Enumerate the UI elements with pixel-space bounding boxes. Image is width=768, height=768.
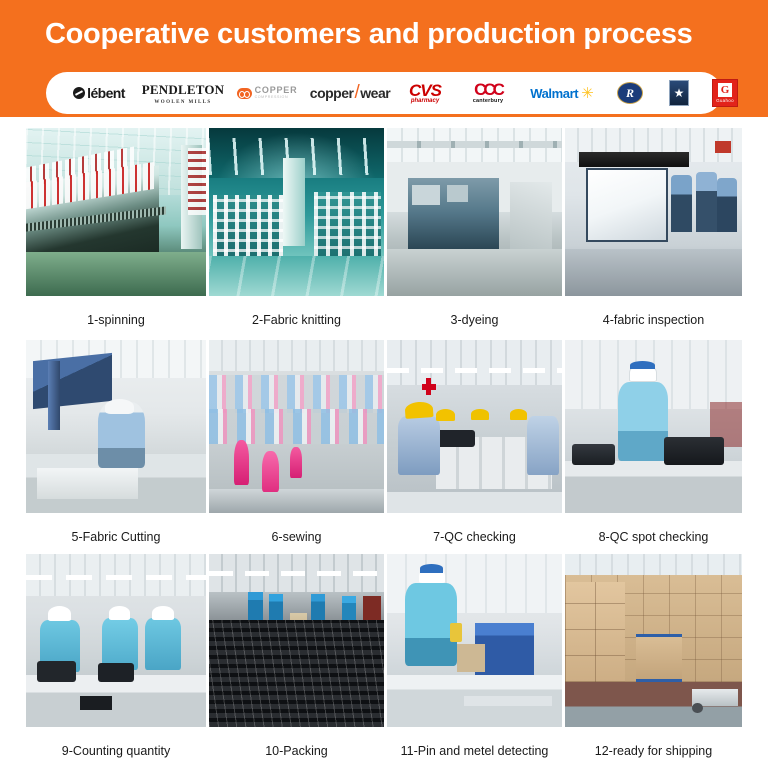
process-photo-grid: 1-spinning 2-Fabric knitting [26,128,742,754]
logo-star-brand: ★ [656,76,702,110]
logo-lebent: lébent [60,76,138,110]
logo-cvs: CVS pharmacy [394,76,456,110]
customer-logo-bar: lébent PENDLETON WOOLEN MILLS COPPER COM… [46,72,722,114]
logo-canterbury-mark: CCC [473,81,503,98]
copper-mark-icon [237,88,252,99]
process-cell-10[interactable]: 10-Packing [209,554,384,758]
logo-canterbury-label: canterbury [473,99,503,105]
process-photo-pin-metal-detecting[interactable] [387,554,562,727]
logo-pendleton-sub: WOOLEN MILLS [142,100,224,105]
process-cell-3[interactable]: 3-dyeing [387,128,562,327]
process-cell-1[interactable]: 1-spinning [26,128,206,327]
process-caption-10: 10-Packing [209,744,384,758]
process-photo-fabric-inspection[interactable] [565,128,742,296]
process-cell-9[interactable]: 9-Counting quantity [26,554,206,758]
process-photo-counting-quantity[interactable] [26,554,206,727]
process-photo-spinning[interactable] [26,128,206,296]
process-photo-ready-for-shipping[interactable] [565,554,742,727]
process-caption-12: 12-ready for shipping [565,744,742,758]
process-cell-11[interactable]: 11-Pin and metel detecting [387,554,562,758]
product-process-infographic: Cooperative customers and production pro… [0,0,768,768]
process-row-3: 9-Counting quantity 10-Packing [26,554,742,754]
logo-copperwear-label-b: wear [360,85,390,101]
process-caption-9: 9-Counting quantity [26,744,206,758]
process-cell-6[interactable]: 6-sewing [209,340,384,544]
logo-rebok: R [606,76,654,110]
process-photo-fabric-cutting[interactable] [26,340,206,513]
page-title: Cooperative customers and production pro… [45,18,693,51]
process-caption-5: 5-Fabric Cutting [26,530,206,544]
logo-rebok-label: R [626,86,634,101]
logo-pendleton: PENDLETON WOOLEN MILLS [140,76,226,110]
logo-g-brand: G Guahoo [704,76,746,110]
logo-g-label: G [718,83,732,97]
process-photo-packing[interactable] [209,554,384,727]
logo-copperwear-slash: / [354,82,359,104]
logo-g-sub: Guahoo [716,98,734,103]
star-icon: ★ [674,87,685,99]
logo-walmart: Walmart ✳ [520,76,604,110]
process-photo-dyeing[interactable] [387,128,562,296]
process-photo-fabric-knitting[interactable] [209,128,384,296]
logo-cvs-sub: pharmacy [409,98,441,104]
logo-copper-label: COPPER [255,86,298,95]
process-cell-4[interactable]: 4-fabric inspection [565,128,742,327]
process-caption-3: 3-dyeing [387,313,562,327]
process-caption-4: 4-fabric inspection [565,313,742,327]
process-caption-7: 7-QC checking [387,530,562,544]
logo-walmart-label: Walmart [530,86,578,101]
process-cell-8[interactable]: 8-QC spot checking [565,340,742,544]
process-photo-qc-spot-checking[interactable] [565,340,742,513]
logo-copperwear-label-a: copper [310,85,354,101]
process-caption-6: 6-sewing [209,530,384,544]
process-caption-1: 1-spinning [26,313,206,327]
process-cell-2[interactable]: 2-Fabric knitting [209,128,384,327]
process-row-1: 1-spinning 2-Fabric knitting [26,128,742,340]
logo-canterbury: CCC canterbury [458,76,518,110]
lebent-mark-icon [73,87,85,99]
process-photo-sewing[interactable] [209,340,384,513]
logo-cvs-label: CVS [409,82,441,99]
process-cell-7[interactable]: 7-QC checking [387,340,562,544]
walmart-spark-icon: ✳ [581,86,594,101]
process-cell-12[interactable]: 12-ready for shipping [565,554,742,758]
process-cell-5[interactable]: 5-Fabric Cutting [26,340,206,544]
logo-lebent-label: lébent [87,85,125,101]
process-photo-qc-checking[interactable] [387,340,562,513]
logo-copper-sub: COMPRESSION [255,96,298,100]
process-caption-2: 2-Fabric knitting [209,313,384,327]
logo-copper: COPPER COMPRESSION [228,76,306,110]
logo-pendleton-label: PENDLETON [142,82,224,97]
process-caption-11: 11-Pin and metel detecting [387,744,562,758]
process-row-2: 5-Fabric Cutting 6-sewing [26,340,742,554]
logo-copperwear: copper / wear [308,76,392,110]
process-caption-8: 8-QC spot checking [565,530,742,544]
header-banner: Cooperative customers and production pro… [0,0,768,117]
